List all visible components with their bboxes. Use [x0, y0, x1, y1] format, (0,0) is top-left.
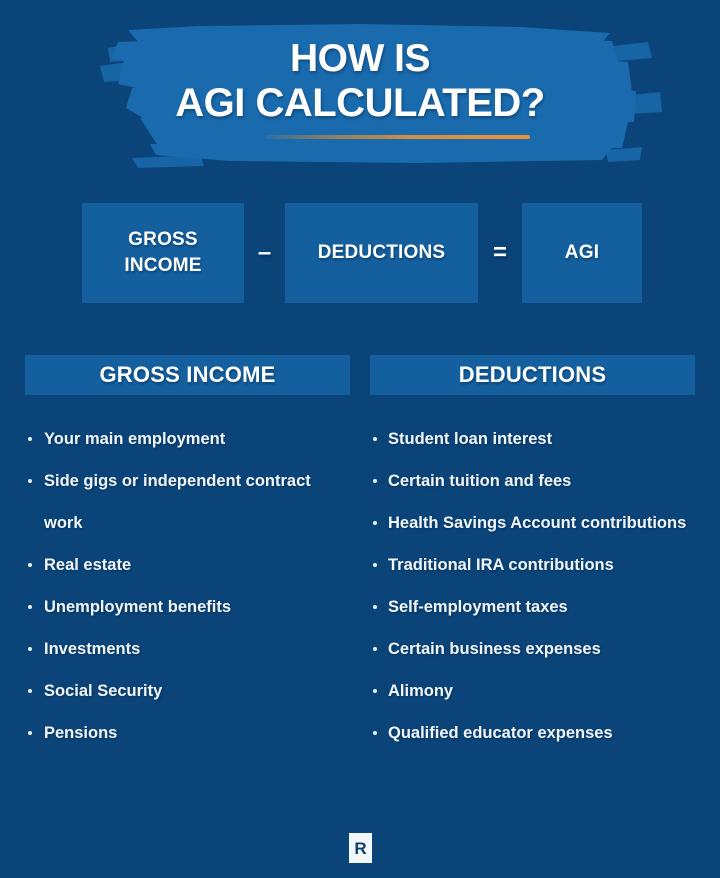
column-gross-income: GROSS INCOME Your main employment Side g… [25, 355, 350, 754]
column-header-gross-income-label: GROSS INCOME [100, 362, 276, 388]
equals-operator-icon: = [478, 203, 522, 303]
formula-gross-income-line-1: GROSS [128, 229, 198, 250]
list-item: Pensions [25, 712, 350, 754]
gross-income-list: Your main employment Side gigs or indepe… [25, 418, 350, 754]
formula-agi-text: AGI [565, 240, 599, 266]
list-item: Self-employment taxes [370, 586, 695, 628]
formula-box-deductions: DEDUCTIONS [285, 203, 478, 303]
list-item: Investments [25, 628, 350, 670]
formula-box-agi: AGI [522, 203, 642, 303]
title-line-1: HOW IS [0, 36, 720, 81]
ramsey-logo-icon: R [349, 833, 372, 863]
list-item: Traditional IRA contributions [370, 544, 695, 586]
agi-formula: GROSS INCOME – DEDUCTIONS = AGI [0, 203, 720, 305]
list-item: Side gigs or independent contract work [25, 460, 350, 544]
column-deductions: DEDUCTIONS Student loan interest Certain… [370, 355, 695, 754]
minus-operator-icon: – [244, 203, 285, 303]
list-item: Certain tuition and fees [370, 460, 695, 502]
deductions-list: Student loan interest Certain tuition an… [370, 418, 695, 754]
title-line-2: AGI CALCULATED? [0, 81, 720, 126]
title-underline-accent [265, 135, 530, 139]
list-item: Your main employment [25, 418, 350, 460]
list-item: Real estate [25, 544, 350, 586]
formula-deductions-text: DEDUCTIONS [318, 240, 446, 266]
list-item: Student loan interest [370, 418, 695, 460]
formula-box-gross-income: GROSS INCOME [82, 203, 244, 303]
formula-gross-income-line-2: INCOME [124, 255, 201, 276]
column-header-gross-income: GROSS INCOME [25, 355, 350, 395]
list-item: Unemployment benefits [25, 586, 350, 628]
page-title: HOW IS AGI CALCULATED? [0, 36, 720, 126]
list-item: Social Security [25, 670, 350, 712]
list-item: Certain business expenses [370, 628, 695, 670]
list-item: Health Savings Account contributions [370, 502, 695, 544]
column-header-deductions-label: DEDUCTIONS [459, 362, 606, 388]
list-item: Qualified educator expenses [370, 712, 695, 754]
header-banner: HOW IS AGI CALCULATED? [0, 0, 720, 175]
ramsey-logo-letter: R [354, 840, 366, 857]
column-header-deductions: DEDUCTIONS [370, 355, 695, 395]
list-item: Alimony [370, 670, 695, 712]
formula-gross-income-text: GROSS INCOME [124, 227, 201, 279]
